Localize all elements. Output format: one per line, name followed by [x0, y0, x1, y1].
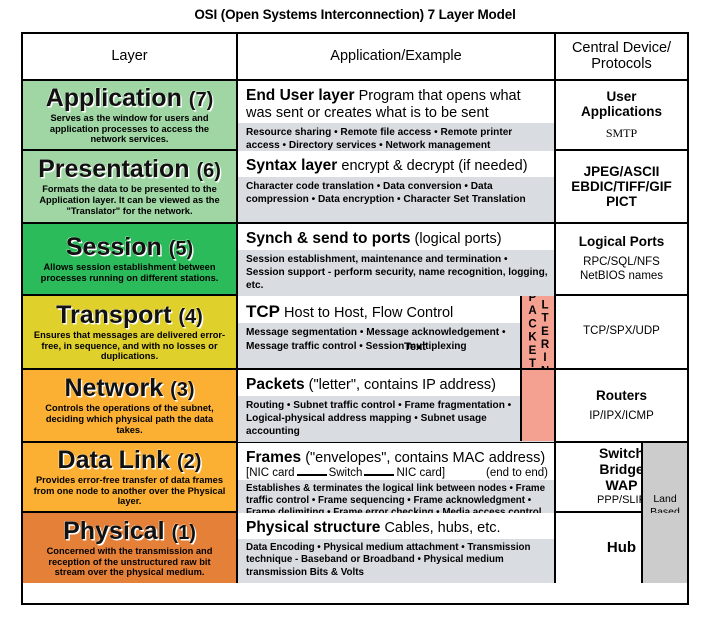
app-head-datalink: Frames ("envelopes", contains MAC addres…: [238, 443, 554, 467]
layer-row-session: Session (5) Allows session establishment…: [23, 224, 687, 296]
layer-cell-network: Network (3) Controls the operations of t…: [23, 370, 238, 441]
layer-description-datalink: Provides error-free transfer of data fra…: [29, 475, 230, 508]
layer-row-application: Application (7) Serves as the window for…: [23, 81, 687, 151]
device-main-presentation: JPEG/ASCII EBDIC/TIFF/GIF PICT: [571, 164, 672, 209]
header-device-line1: Central Device/: [572, 41, 671, 57]
layer-title-datalink: Data Link (2): [58, 448, 202, 473]
app-details-presentation: Character code translation • Data conver…: [238, 177, 554, 223]
header-layer: Layer: [23, 34, 238, 79]
layer-description-transport: Ensures that messages are delivered erro…: [29, 330, 230, 363]
layer-description-application: Serves as the window for users and appli…: [29, 113, 230, 146]
header-central-device: Central Device/ Protocols: [556, 34, 687, 79]
layer-title-presentation: Presentation (6): [38, 157, 221, 182]
app-cell-presentation: Syntax layer encrypt & decrypt (if neede…: [238, 151, 556, 222]
layer-title-physical: Physical (1): [63, 519, 196, 544]
packet-filtering-box-continuation: [520, 370, 554, 441]
app-details-network: Routing • Subnet traffic control • Frame…: [238, 396, 554, 442]
layer-cell-physical: Physical (1) Concerned with the transmis…: [23, 513, 238, 583]
device-main-application: User Applications: [581, 89, 662, 119]
packet-label: PACKET: [526, 296, 538, 368]
app-head-presentation: Syntax layer encrypt & decrypt (if neede…: [238, 151, 554, 177]
layer-description-physical: Concerned with the transmission and rece…: [29, 546, 230, 579]
layer-title-session: Session (5): [66, 235, 193, 260]
app-details-transport: Message segmentation • Message acknowled…: [238, 323, 554, 368]
device-cell-network: Routers IP/IPX/ICMP: [556, 370, 687, 441]
layer-description-presentation: Formats the data to be presented to the …: [29, 184, 230, 217]
layer-cell-datalink: Data Link (2) Provides error-free transf…: [23, 443, 238, 511]
app-cell-network: Packets ("letter", contains IP address) …: [238, 370, 556, 441]
app-details-presentation-strong: Character Set Translation: [403, 194, 525, 205]
app-head-application: End User layer Program that opens what w…: [238, 81, 554, 123]
layer-cell-session: Session (5) Allows session establishment…: [23, 224, 238, 294]
osi-diagram-page: OSI (Open Systems Interconnection) 7 Lay…: [0, 0, 710, 619]
device-cell-presentation: JPEG/ASCII EBDIC/TIFF/GIF PICT: [556, 151, 687, 222]
table-header-row: Layer Application/Example Central Device…: [23, 34, 687, 81]
device-cell-transport: TCP/SPX/UDP: [556, 296, 687, 368]
layer-cell-application: Application (7) Serves as the window for…: [23, 81, 238, 149]
connector-dash-left: [297, 474, 327, 476]
layer-title-application: Application (7): [46, 86, 214, 111]
layer-row-presentation: Presentation (6) Formats the data to be …: [23, 151, 687, 224]
layer-row-physical: Physical (1) Concerned with the transmis…: [23, 513, 687, 583]
device-sub-application: SMTP: [606, 126, 637, 140]
device-main-session: Logical Ports: [579, 234, 665, 249]
layer-row-transport: Transport (4) Ensures that messages are …: [23, 296, 687, 370]
app-cell-application: End User layer Program that opens what w…: [238, 81, 556, 149]
app-cell-physical: Physical structure Cables, hubs, etc. Da…: [238, 513, 556, 583]
layer-cell-presentation: Presentation (6) Formats the data to be …: [23, 151, 238, 222]
filtering-label: FILTERING: [539, 296, 551, 368]
device-main-network: Routers: [596, 388, 647, 403]
land-based-layers-strip-continuation: [641, 513, 687, 583]
overlay-text-artifact: Text: [404, 340, 426, 355]
device-cell-application: User Applications SMTP: [556, 81, 687, 149]
app-cell-transport: TCP Host to Host, Flow Control Message s…: [238, 296, 556, 368]
app-cell-datalink: Frames ("envelopes", contains MAC addres…: [238, 443, 556, 511]
layer-row-network: Network (3) Controls the operations of t…: [23, 370, 687, 443]
nic-path-line: [NIC card Switch NIC card] (end to end): [238, 467, 554, 480]
header-device-line2: Protocols: [572, 57, 671, 73]
layer-row-datalink: Data Link (2) Provides error-free transf…: [23, 443, 687, 513]
layer-description-session: Allows session establishment between pro…: [29, 262, 230, 284]
layer-cell-transport: Transport (4) Ensures that messages are …: [23, 296, 238, 368]
device-sub-transport: TCP/SPX/UDP: [583, 325, 660, 339]
packet-filtering-box: PACKET FILTERING: [520, 296, 554, 368]
device-sub-network: IP/IPX/ICMP: [589, 410, 654, 424]
layer-title-network: Network (3): [64, 376, 194, 401]
header-application: Application/Example: [238, 34, 556, 79]
app-cell-session: Synch & send to ports (logical ports) Se…: [238, 224, 556, 294]
device-sub-session: RPC/SQL/NFS NetBIOS names: [580, 256, 663, 284]
app-details-physical: Data Encoding • Physical medium attachme…: [238, 539, 554, 584]
device-cell-datalink: Switch Bridge WAP PPP/SLIP Land Based La…: [556, 443, 687, 511]
app-head-physical: Physical structure Cables, hubs, etc.: [238, 513, 554, 539]
device-cell-physical: Hub: [556, 513, 687, 583]
app-head-network: Packets ("letter", contains IP address): [238, 370, 554, 396]
connector-dash-right: [364, 474, 394, 476]
osi-table: Layer Application/Example Central Device…: [21, 32, 689, 605]
app-details-session: Session establishment, maintenance and t…: [238, 250, 554, 296]
app-head-session: Synch & send to ports (logical ports): [238, 224, 554, 250]
layer-title-transport: Transport (4): [56, 303, 203, 328]
page-title: OSI (Open Systems Interconnection) 7 Lay…: [0, 0, 710, 22]
device-cell-session: Logical Ports RPC/SQL/NFS NetBIOS names: [556, 224, 687, 294]
app-head-transport: TCP Host to Host, Flow Control: [238, 296, 554, 323]
layer-description-network: Controls the operations of the subnet, d…: [29, 403, 230, 436]
